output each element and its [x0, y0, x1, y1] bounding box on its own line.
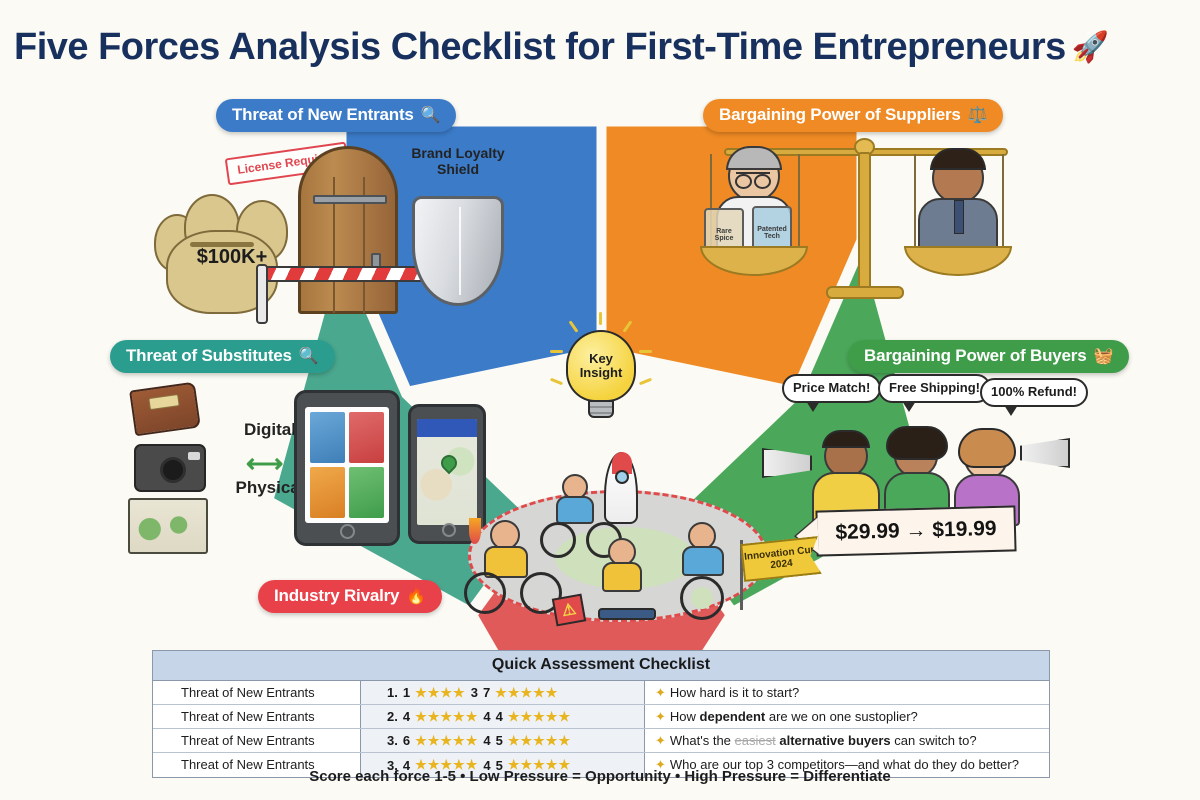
infographic-canvas: Five Forces Analysis Checklist for First… [0, 0, 1200, 800]
buyer-tie [954, 200, 964, 234]
score-value-c: 5 [496, 733, 503, 748]
score-value-b: 4 [483, 733, 490, 748]
page-title: Five Forces Analysis Checklist for First… [14, 26, 1066, 69]
row-question: ✦How dependent are we on one sustoplier? [645, 705, 1049, 728]
tablet-icon [294, 390, 400, 546]
star-rating-b[interactable]: ★★★★★ [508, 709, 571, 725]
scale-post [858, 152, 871, 292]
basket-icon: 🧺 [1093, 346, 1113, 366]
illustration-suppliers: Rare Spice Patented Tech [690, 138, 1040, 318]
rocket-icon: 🚀 [1072, 31, 1109, 64]
phone-status-bar [417, 419, 477, 437]
scale-string [798, 154, 800, 250]
customer-hair [822, 430, 870, 448]
score-prefix: 1. [387, 685, 398, 700]
customer-hair [886, 426, 948, 460]
door-bar [313, 195, 387, 204]
question-pre: How [670, 709, 700, 724]
score-value-b: 4 [483, 709, 490, 724]
map-pin-icon [438, 452, 461, 475]
tablet-home-button[interactable] [340, 524, 355, 539]
score-value-a: 1 [403, 685, 410, 700]
shield-highlight [459, 207, 461, 295]
speech-bubble-refund: 100% Refund! [980, 378, 1088, 407]
innovation-cup-flag: Innovation Cup 2024 [740, 536, 822, 582]
scale-pan-left [700, 246, 808, 276]
force-label-text: Threat of Substitutes [126, 346, 292, 366]
question-smudge: easiest [735, 733, 776, 748]
table-row[interactable]: Threat of New Entrants 3. 6 ★★★★★ 4 5 ★★… [153, 729, 1049, 753]
key-insight-bulb[interactable]: Key Insight [566, 330, 636, 422]
score-value-c: 4 [496, 709, 503, 724]
force-label-text: Industry Rivalry [274, 586, 399, 606]
price-tag: $29.99 → $19.99 [815, 505, 1016, 556]
app-thumbnail [310, 412, 345, 463]
rocket-flame [469, 518, 481, 544]
bullet-icon: ✦ [655, 685, 666, 700]
star-rating-a[interactable]: ★★★★★ [415, 709, 478, 725]
magnifier-icon: 🔍 [299, 346, 319, 366]
bullet-icon: ✦ [655, 709, 666, 724]
table-row[interactable]: Threat of New Entrants 1. 1 ★★★★ 3 7 ★★★… [153, 681, 1049, 705]
title-bar: Five Forces Analysis Checklist for First… [0, 26, 1200, 69]
score-value-c: 7 [483, 685, 490, 700]
row-score-cell[interactable]: 3. 6 ★★★★★ 4 5 ★★★★★ [361, 729, 645, 752]
camera-lens [160, 457, 186, 483]
score-value-b: 3 [471, 685, 478, 700]
app-thumbnail [349, 467, 384, 518]
bicycle-wheel [540, 522, 576, 558]
phone-home-button[interactable] [442, 523, 456, 537]
rocket-window [615, 470, 629, 484]
app-thumbnail [349, 412, 384, 463]
star-rating-b[interactable]: ★★★★★ [495, 685, 558, 701]
barrier-post [256, 264, 268, 324]
megaphone-icon [1020, 438, 1070, 468]
force-label-rivalry[interactable]: Industry Rivalry 🔥 [258, 580, 442, 613]
force-label-text: Bargaining Power of Suppliers [719, 105, 961, 125]
warning-sign-icon: ⚠ [552, 594, 586, 627]
row-force-label: Threat of New Entrants [153, 729, 361, 752]
force-label-substitutes[interactable]: Threat of Substitutes 🔍 [110, 340, 335, 373]
scooter-icon [598, 608, 656, 620]
checklist-title: Quick Assessment Checklist [153, 651, 1049, 681]
illustration-rivalry: Innovation Cup 2024 ⚠ [458, 448, 808, 638]
rocket-icon [604, 452, 638, 524]
star-rating-b[interactable]: ★★★★★ [508, 733, 571, 749]
row-score-cell[interactable]: 1. 1 ★★★★ 3 7 ★★★★★ [361, 681, 645, 704]
speech-bubble-free-shipping: Free Shipping! [878, 374, 991, 403]
shield-icon [412, 196, 504, 306]
speech-bubble-price-match: Price Match! [782, 374, 881, 403]
question-post: are we on one sustoplier? [765, 709, 917, 724]
camera-flash [188, 452, 200, 460]
question-strong: alternative buyers [779, 733, 890, 748]
illustration-new-entrants: $100K+ License Required Brand Loyalty Sh… [150, 138, 520, 318]
scale-string [914, 154, 916, 250]
magnifier-icon: 🔍 [421, 105, 441, 125]
row-force-label: Threat of New Entrants [153, 705, 361, 728]
bulb-ray [639, 350, 652, 353]
force-label-buyers[interactable]: Bargaining Power of Buyers 🧺 [848, 340, 1129, 373]
row-score-cell[interactable]: 2. 4 ★★★★★ 4 4 ★★★★★ [361, 705, 645, 728]
score-prefix: 2. [387, 709, 398, 724]
question-pre: How hard is it to start? [670, 685, 799, 700]
paper-map-icon [128, 498, 208, 554]
bicycle-wheel [464, 572, 506, 614]
flame-icon: 🔥 [406, 586, 426, 606]
camera-icon [134, 444, 206, 492]
scale-string [1002, 154, 1004, 250]
illustration-buyers: Price Match! Free Shipping! 100% Refund!… [768, 372, 1118, 562]
bulb-glass: Key Insight [566, 330, 636, 402]
door-icon [298, 146, 398, 314]
tablet-screen [305, 407, 389, 523]
glasses-icon [736, 172, 770, 183]
force-label-suppliers[interactable]: Bargaining Power of Suppliers ⚖️ [703, 99, 1003, 132]
bulb-base [588, 400, 614, 418]
competitor-torso [682, 546, 724, 576]
book-icon [129, 382, 201, 437]
star-rating-a[interactable]: ★★★★ [415, 685, 466, 701]
force-label-new-entrants[interactable]: Threat of New Entrants 🔍 [216, 99, 456, 132]
bullet-icon: ✦ [655, 733, 666, 748]
row-force-label: Threat of New Entrants [153, 681, 361, 704]
brand-loyalty-shield-label: Brand Loyalty Shield [406, 146, 510, 177]
competitor-torso [602, 562, 642, 592]
quick-assessment-checklist: Quick Assessment Checklist Threat of New… [152, 650, 1050, 778]
customer-hair [958, 428, 1016, 468]
scale-base [826, 286, 904, 299]
unicycle-wheel [680, 576, 724, 620]
book-label [148, 394, 179, 410]
question-strong: dependent [700, 709, 766, 724]
competitor-torso [556, 496, 594, 524]
score-prefix: 3. [387, 733, 398, 748]
row-question: ✦What's the easiest alternative buyers c… [645, 729, 1049, 752]
scales-icon: ⚖️ [968, 105, 988, 125]
table-row[interactable]: Threat of New Entrants 2. 4 ★★★★★ 4 4 ★★… [153, 705, 1049, 729]
footer-note: Score each force 1-5 • Low Pressure = Op… [0, 768, 1200, 785]
star-rating-a[interactable]: ★★★★★ [415, 733, 478, 749]
force-label-text: Bargaining Power of Buyers [864, 346, 1086, 366]
money-amount-label: $100K+ [172, 246, 292, 269]
row-question: ✦How hard is it to start? [645, 681, 1049, 704]
bulb-ray [550, 350, 563, 353]
question-pre: What's the [670, 733, 735, 748]
question-post: can switch to? [891, 733, 977, 748]
score-value-a: 6 [403, 733, 410, 748]
score-value-a: 4 [403, 709, 410, 724]
scale-pan-right [904, 246, 1012, 276]
key-insight-label: Key Insight [580, 352, 623, 379]
illustration-substitutes: Digital ⟷ Physical [118, 378, 488, 563]
bulb-ray [599, 312, 602, 325]
swap-arrow-icon: ⟷ [246, 448, 283, 479]
force-label-text: Threat of New Entrants [232, 105, 414, 125]
key-insight-line2: Insight [580, 365, 623, 380]
app-thumbnail [310, 467, 345, 518]
